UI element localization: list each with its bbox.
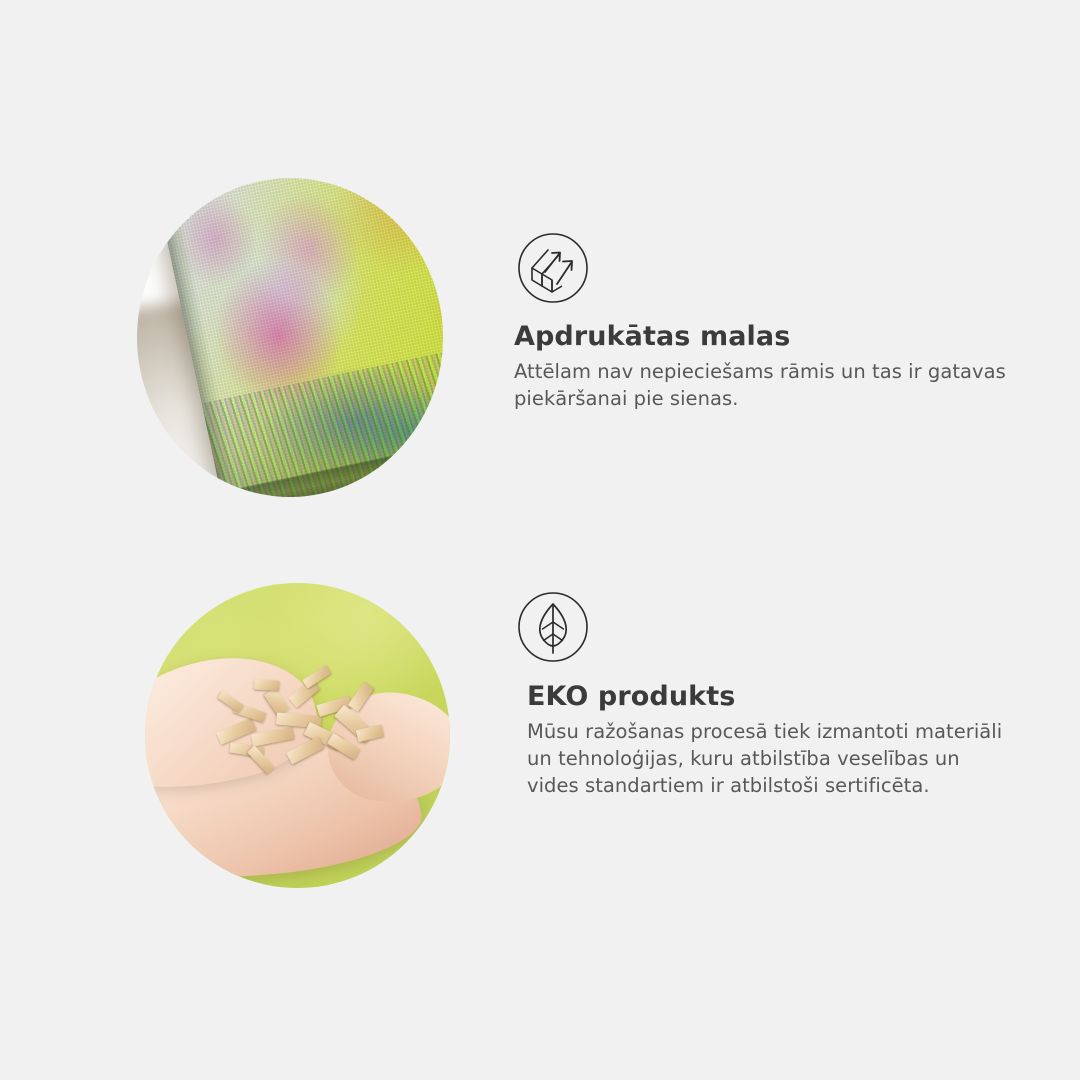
canvas-wrapped-edge-icon (517, 232, 589, 304)
leaf-icon (517, 591, 589, 663)
hands-holding-wood-chips-photo (145, 583, 450, 888)
feature-description-eco: Mūsu ražošanas procesā tiek izmantoti ma… (527, 719, 1017, 800)
wood-chips-pile (204, 660, 402, 792)
canvas-print-corner-photo (137, 178, 443, 497)
feature-highlights-page: Apdrukātas malas Attēlam nav nepieciešam… (0, 0, 1080, 1080)
feature-description-printed-edges: Attēlam nav nepieciešams rāmis un tas ir… (514, 359, 1014, 413)
feature-text-eco: EKO produkts Mūsu ražošanas procesā tiek… (527, 681, 1017, 800)
feature-title-printed-edges: Apdrukātas malas (514, 321, 1014, 353)
feature-title-eco: EKO produkts (527, 681, 1017, 713)
feature-text-printed-edges: Apdrukātas malas Attēlam nav nepieciešam… (514, 321, 1014, 413)
